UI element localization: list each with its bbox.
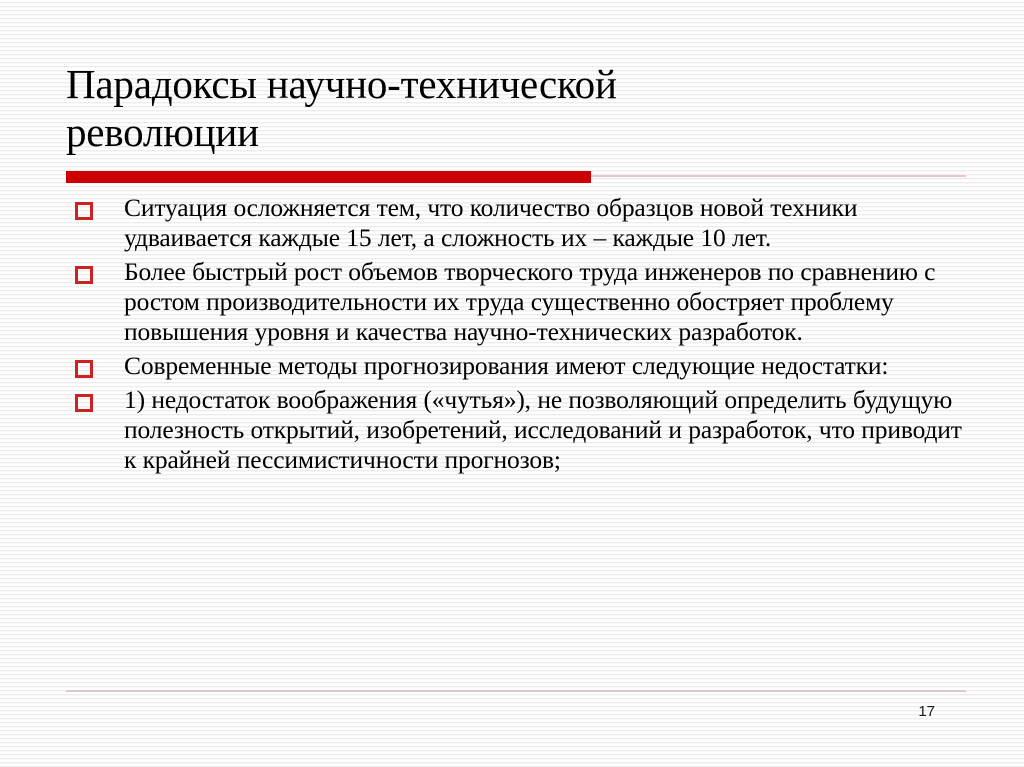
list-item-text: 1) недостаток воображения («чутья»), не …	[124, 385, 976, 475]
list-item: Ситуация осложняется тем, что количество…	[66, 193, 976, 253]
list-item-text: Более быстрый рост объемов творческого т…	[124, 257, 976, 347]
title-divider-tail	[591, 175, 966, 177]
bullet-list: Ситуация осложняется тем, что количество…	[66, 193, 976, 479]
list-item: Более быстрый рост объемов творческого т…	[66, 257, 976, 347]
list-item: 1) недостаток воображения («чутья»), не …	[66, 385, 976, 475]
page-title-line-1: Парадоксы научно-технической	[66, 60, 966, 108]
list-item-text: Современные методы прогнозирования имеют…	[124, 351, 976, 381]
hollow-square-bullet-icon	[75, 394, 93, 412]
footer-divider	[66, 690, 966, 692]
page-title: Парадоксы научно-технической революции	[66, 60, 966, 156]
list-item-text: Ситуация осложняется тем, что количество…	[124, 193, 976, 253]
presentation-slide: Парадоксы научно-технической революции С…	[0, 0, 1024, 767]
list-item: Современные методы прогнозирования имеют…	[66, 351, 976, 381]
hollow-square-bullet-icon	[75, 202, 93, 220]
title-divider-bar	[66, 171, 591, 183]
page-number: 17	[895, 703, 935, 721]
page-title-line-2: революции	[66, 108, 966, 156]
hollow-square-bullet-icon	[75, 266, 93, 284]
hollow-square-bullet-icon	[75, 360, 93, 378]
